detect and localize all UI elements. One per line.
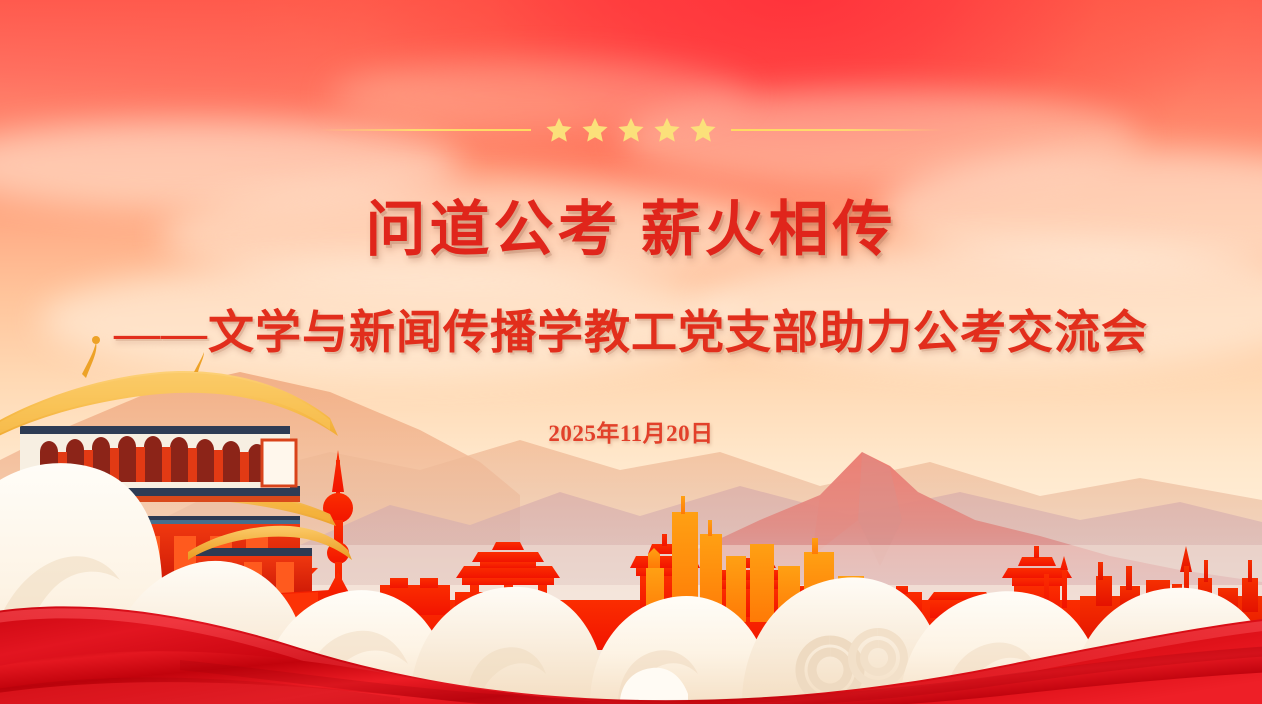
poster-subtitle: ——文学与新闻传播学教工党支部助力公考交流会: [0, 305, 1262, 360]
five-star-group: [545, 116, 717, 144]
decorative-line-right: [731, 129, 943, 131]
star-icon: [581, 116, 609, 144]
decorative-line-left: [319, 129, 531, 131]
poster-date: 2025年11月20日: [0, 414, 1262, 448]
poster-title: 问道公考 薪火相传: [0, 196, 1262, 266]
star-icon: [653, 116, 681, 144]
star-icon: [617, 116, 645, 144]
decorative-star-row: [0, 110, 1262, 150]
poster-canvas: 问道公考 薪火相传 ——文学与新闻传播学教工党支部助力公考交流会 2025年11…: [0, 0, 1262, 704]
star-icon: [689, 116, 717, 144]
star-icon: [545, 116, 573, 144]
